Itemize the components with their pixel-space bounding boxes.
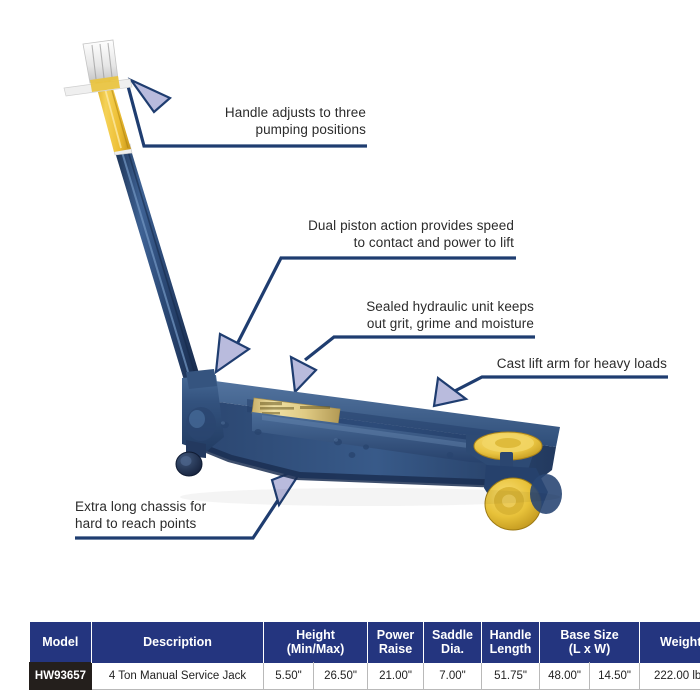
col-header-power-raise-l2: Raise	[379, 642, 412, 656]
spec-table-head: Model Description Height (Min/Max) Power…	[30, 622, 700, 663]
callout-handle-line1: Handle adjusts to three	[196, 104, 366, 121]
col-header-description: Description	[92, 622, 264, 663]
callout-handle-line2: pumping positions	[196, 121, 366, 138]
cell-base-width: 14.50"	[590, 663, 640, 690]
spec-table-header-row: Model Description Height (Min/Max) Power…	[30, 622, 700, 663]
rear-caster	[176, 440, 206, 476]
leader-line-liftarm	[447, 377, 668, 395]
col-header-base-size-l2: (L x W)	[569, 642, 610, 656]
arrowhead-handle	[131, 80, 170, 112]
col-header-model: Model	[30, 622, 92, 663]
jack-illustration-area: Handle adjusts to three pumping position…	[0, 0, 700, 610]
cell-height-max: 26.50"	[314, 663, 368, 690]
col-header-power-raise-l1: Power	[377, 628, 415, 642]
arrowhead-piston	[216, 334, 249, 372]
spec-table-body: HW93657 4 Ton Manual Service Jack 5.50" …	[30, 663, 700, 690]
col-header-height-l2: (Min/Max)	[287, 642, 345, 656]
callout-extra-long-chassis: Extra long chassis for hard to reach poi…	[75, 498, 255, 532]
chassis-post-boss-hi	[189, 410, 205, 428]
col-header-weight-l1: Weight	[660, 635, 700, 649]
callout-piston-line2: to contact and power to lift	[276, 234, 514, 251]
cell-base-length: 48.00"	[540, 663, 590, 690]
callout-chassis-line2: hard to reach points	[75, 515, 255, 532]
col-header-handle-length: Handle Length	[482, 622, 540, 663]
col-header-handle-length-l1: Handle	[490, 628, 532, 642]
cell-height-min: 5.50"	[264, 663, 314, 690]
handle-grip	[64, 40, 132, 96]
col-header-height: Height (Min/Max)	[264, 622, 368, 663]
col-header-height-l1: Height	[296, 628, 335, 642]
col-header-saddle-dia: Saddle Dia.	[424, 622, 482, 663]
col-header-description-l1: Description	[143, 635, 212, 649]
col-header-saddle-dia-l2: Dia.	[441, 642, 464, 656]
callout-cast-lift-arm: Cast lift arm for heavy loads	[477, 355, 667, 372]
cell-power-raise: 21.00"	[368, 663, 424, 690]
cell-model: HW93657	[30, 663, 92, 690]
callout-dual-piston: Dual piston action provides speed to con…	[276, 217, 514, 251]
spec-table-container: Model Description Height (Min/Max) Power…	[29, 622, 671, 690]
col-header-handle-length-l2: Length	[490, 642, 532, 656]
spec-table: Model Description Height (Min/Max) Power…	[29, 622, 700, 690]
handle-lower-shaft	[115, 150, 202, 387]
arrowhead-hydraulic	[291, 357, 316, 392]
product-diagram-page: Handle adjusts to three pumping position…	[0, 0, 700, 700]
callout-piston-line1: Dual piston action provides speed	[276, 217, 514, 234]
col-header-base-size-l1: Base Size	[560, 628, 618, 642]
col-header-saddle-dia-l1: Saddle	[432, 628, 473, 642]
table-row: HW93657 4 Ton Manual Service Jack 5.50" …	[30, 663, 700, 690]
col-header-base-size: Base Size (L x W)	[540, 622, 640, 663]
cell-description: 4 Ton Manual Service Jack	[92, 663, 264, 690]
arrowhead-liftarm	[434, 378, 466, 406]
callout-chassis-line1: Extra long chassis for	[75, 498, 255, 515]
handle-socket	[186, 369, 217, 389]
callout-hydraulic-line2: out grit, grime and moisture	[334, 315, 534, 332]
col-header-weight: Weight	[640, 622, 700, 663]
callout-liftarm-line1: Cast lift arm for heavy loads	[477, 355, 667, 372]
cell-weight: 222.00 lbs	[640, 663, 700, 690]
cell-handle-length: 51.75"	[482, 663, 540, 690]
callout-hydraulic-line1: Sealed hydraulic unit keeps	[334, 298, 534, 315]
callout-sealed-hydraulic: Sealed hydraulic unit keeps out grit, gr…	[334, 298, 534, 332]
cell-saddle-dia: 7.00"	[424, 663, 482, 690]
callout-handle-adjusts: Handle adjusts to three pumping position…	[196, 104, 366, 138]
col-header-model-l1: Model	[42, 635, 78, 649]
col-header-power-raise: Power Raise	[368, 622, 424, 663]
